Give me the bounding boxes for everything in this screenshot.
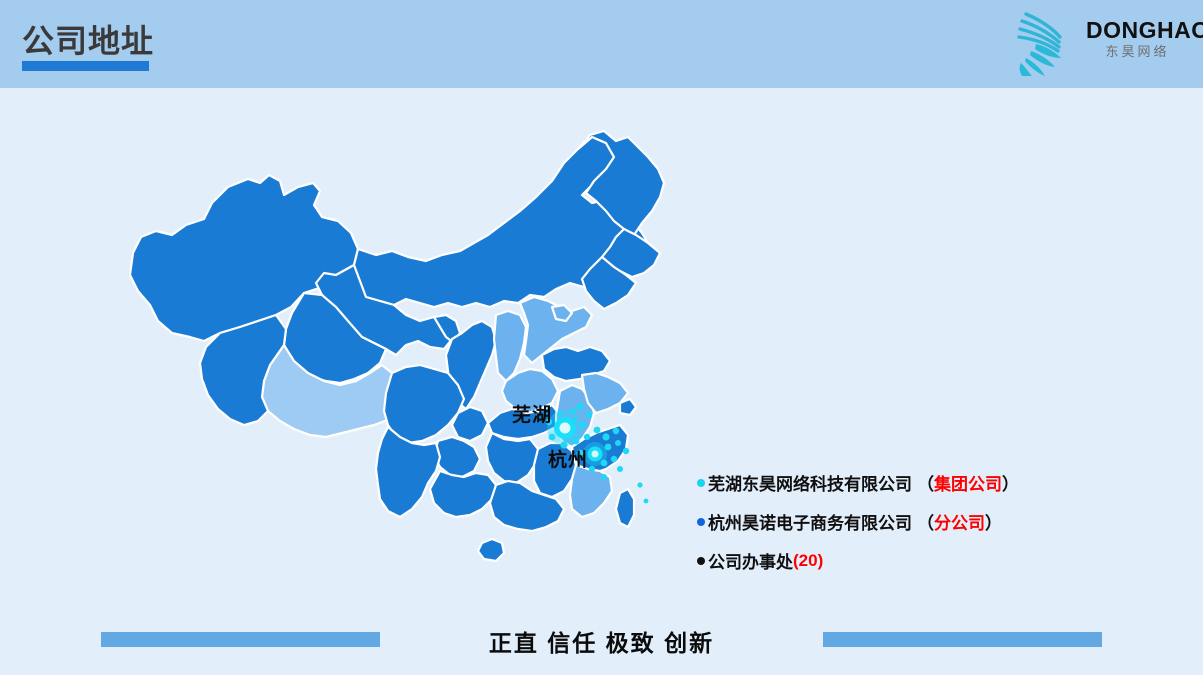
marker-wuhu-core [560, 423, 571, 434]
logo-subname: 东昊网络 [1086, 42, 1189, 62]
legend-label-offices: 公司办事处 [708, 548, 793, 573]
province-shanxi [494, 311, 526, 381]
legend-label-hangzhou-haonuo: 杭州昊诺电子商务有限公司 [708, 509, 912, 534]
slide-root: 公司地址 [0, 0, 1203, 675]
province-fujian [570, 465, 612, 517]
legend-item-offices: 公司办事处 (20) [697, 541, 1027, 580]
province-chongqing [452, 407, 488, 441]
legend-tag-group-company: 集团公司 [934, 470, 1002, 495]
province-hunan [486, 433, 538, 483]
map-label-wuhu: 芜湖 [512, 400, 552, 427]
province-shanghai [620, 399, 636, 415]
legend-item-group-company: 芜湖东昊网络科技有限公司 （ 集团公司 ） [697, 463, 1027, 502]
legend-label-wuhu-donghao: 芜湖东昊网络科技有限公司 [708, 470, 912, 495]
map-label-hangzhou: 杭州 [548, 445, 588, 472]
legend-paren-open-2: （ [917, 509, 934, 534]
address-legend: 芜湖东昊网络科技有限公司 （ 集团公司 ） 杭州昊诺电子商务有限公司 （ 分公司… [697, 463, 1027, 580]
title-underline-accent [22, 61, 149, 71]
legend-paren-close-2: ） [985, 509, 1002, 534]
legend-paren-open: （ [917, 470, 934, 495]
legend-office-count: (20) [793, 551, 823, 571]
legend-dot-black-icon [697, 557, 705, 565]
province-yunnan [376, 427, 440, 517]
legend-paren-close: ） [1002, 470, 1019, 495]
footer-slogan: 正直 信任 极致 创新 [400, 624, 803, 658]
footer-bar-right [823, 632, 1102, 647]
legend-tag-branch-company: 分公司 [934, 509, 985, 534]
province-beijing [552, 305, 572, 321]
legend-dot-blue-icon [697, 518, 705, 526]
china-map-svg [108, 125, 678, 615]
logo-text-block: DONGHAO 东昊网络 [1086, 18, 1189, 62]
marker-hangzhou-core [592, 451, 599, 458]
province-hainan [478, 539, 504, 561]
legend-item-branch-company: 杭州昊诺电子商务有限公司 （ 分公司 ） [697, 502, 1027, 541]
province-guangxi [430, 471, 496, 517]
china-map: 芜湖 杭州 [108, 125, 678, 615]
legend-dot-cyan-icon [697, 479, 705, 487]
footer-bar-left [101, 632, 380, 647]
donghao-fan-logo-icon [1014, 8, 1084, 76]
company-logo: DONGHAO 东昊网络 [1014, 6, 1189, 78]
province-sichuan [384, 365, 464, 443]
logo-name: DONGHAO [1086, 18, 1189, 42]
slide-header: 公司地址 [0, 0, 1203, 88]
province-taiwan [616, 489, 634, 527]
page-title: 公司地址 [22, 16, 154, 62]
